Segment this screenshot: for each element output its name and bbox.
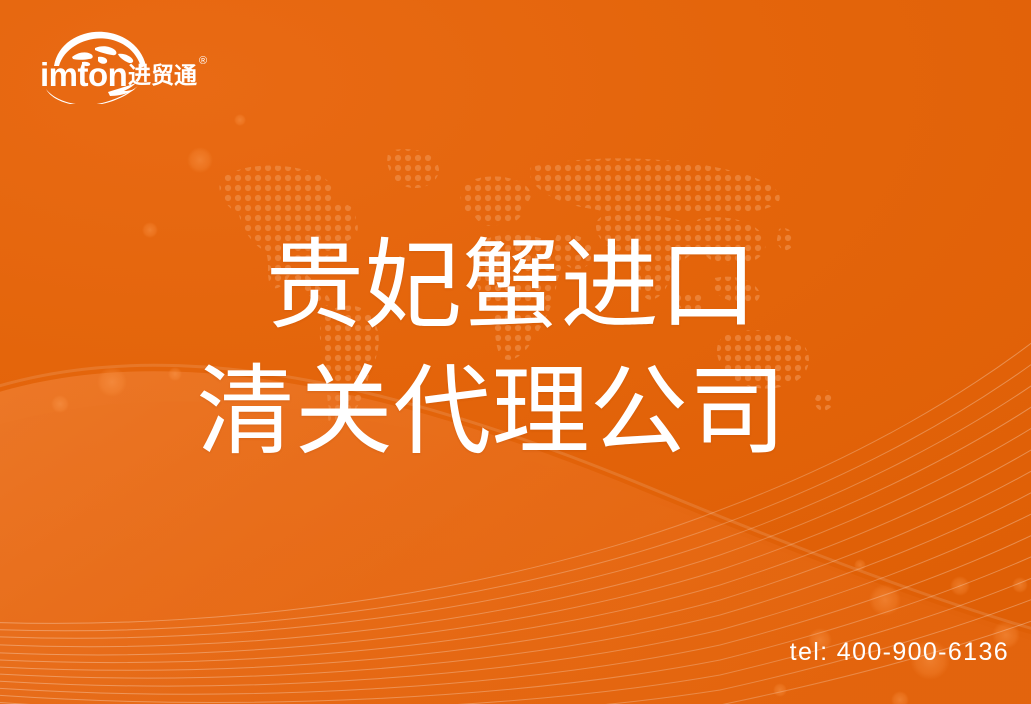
headline-line-1: 贵妃蟹进口 (0, 236, 1031, 334)
page-title: 贵妃蟹进口 清关代理公司 (0, 236, 1031, 460)
headline-line-2: 清关代理公司 (0, 362, 1031, 460)
logo-wordmark: imton (40, 56, 127, 93)
registered-trademark-icon: ® (199, 55, 207, 67)
promo-banner: imton 进贸通 ® 贵妃蟹进口 清关代理公司 tel: 400-900-61… (0, 0, 1031, 704)
brand-logo[interactable]: imton 进贸通 ® (38, 26, 214, 104)
contact-phone[interactable]: tel: 400-900-6136 (790, 638, 1009, 667)
logo-chinese-name: 进贸通 (128, 63, 197, 89)
